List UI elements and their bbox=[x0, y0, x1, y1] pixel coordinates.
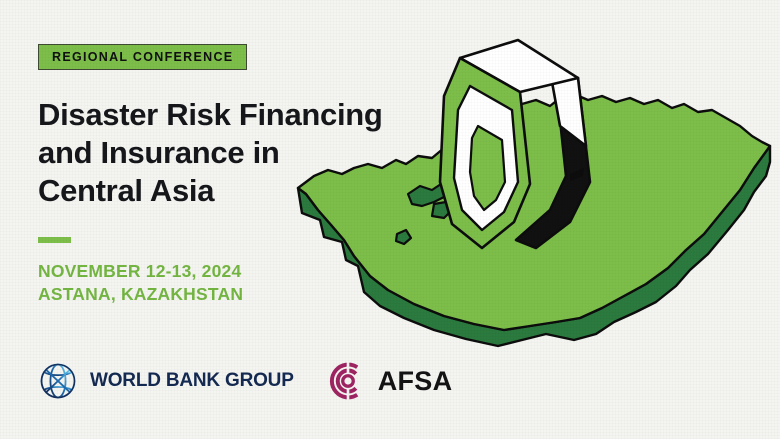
page-title: Disaster Risk Financing and Insurance in… bbox=[38, 96, 448, 211]
world-bank-group-wordmark: WORLD BANK GROUP bbox=[90, 370, 294, 392]
afsa-concentric-arcs-icon bbox=[327, 360, 369, 402]
event-location: ASTANA, KAZAKHSTAN bbox=[38, 283, 468, 306]
headline-line-1: Disaster Risk Financing bbox=[38, 96, 448, 134]
poster-text-column: REGIONAL CONFERENCE Disaster Risk Financ… bbox=[38, 44, 468, 306]
sponsor-logo-row: WORLD BANK GROUP bbox=[36, 359, 452, 403]
event-details: NOVEMBER 12-13, 2024 ASTANA, KAZAKHSTAN bbox=[38, 260, 468, 307]
afsa-logo: AFSA bbox=[327, 360, 453, 402]
headline-line-3: Central Asia bbox=[38, 172, 448, 210]
event-dates: NOVEMBER 12-13, 2024 bbox=[38, 260, 468, 283]
conference-poster: REGIONAL CONFERENCE Disaster Risk Financ… bbox=[0, 0, 780, 439]
afsa-wordmark: AFSA bbox=[378, 366, 453, 397]
green-divider-rule bbox=[38, 237, 71, 243]
headline-line-2: and Insurance in bbox=[38, 134, 448, 172]
world-bank-group-logo: WORLD BANK GROUP bbox=[36, 359, 294, 403]
globe-icon bbox=[36, 359, 80, 403]
regional-conference-badge: REGIONAL CONFERENCE bbox=[38, 44, 247, 70]
